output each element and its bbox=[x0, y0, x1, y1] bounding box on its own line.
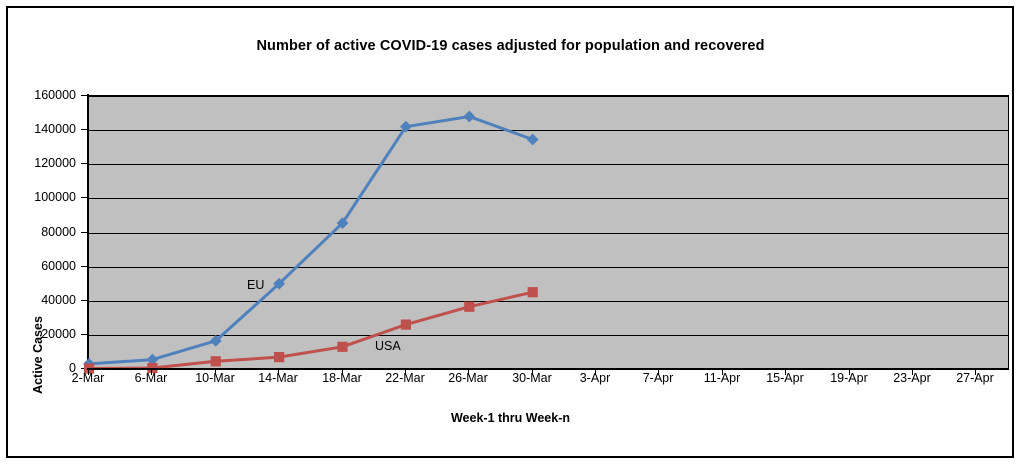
y-axis-tick bbox=[81, 266, 88, 267]
y-axis-tick bbox=[81, 334, 88, 335]
x-axis-tick-label: 19-Apr bbox=[830, 371, 868, 385]
frame-border-right bbox=[1012, 6, 1014, 458]
x-axis-tick-label: 3-Apr bbox=[580, 371, 611, 385]
y-axis-tick bbox=[81, 232, 88, 233]
plot-area bbox=[88, 95, 1009, 370]
x-axis-tick-label: 2-Mar bbox=[72, 371, 105, 385]
x-axis-tick-label: 7-Apr bbox=[643, 371, 674, 385]
x-axis-tick-label: 6-Mar bbox=[135, 371, 168, 385]
y-axis-tick bbox=[81, 95, 88, 96]
data-point bbox=[401, 320, 410, 329]
series-annotation-usa: USA bbox=[375, 339, 401, 353]
x-axis-tick-label: 23-Apr bbox=[893, 371, 931, 385]
y-axis-tick-label: 0 bbox=[0, 361, 76, 375]
series-annotation-eu: EU bbox=[247, 278, 264, 292]
series-plot bbox=[89, 96, 1008, 369]
y-axis-tick-label: 100000 bbox=[0, 190, 76, 204]
y-axis-tick-label: 160000 bbox=[0, 88, 76, 102]
y-axis-tick bbox=[81, 197, 88, 198]
y-axis-tick bbox=[81, 163, 88, 164]
x-axis-title: Week-1 thru Week-n bbox=[0, 411, 1021, 425]
x-axis-tick-label: 26-Mar bbox=[448, 371, 488, 385]
y-axis-tick-label: 120000 bbox=[0, 156, 76, 170]
y-axis-tick-label: 140000 bbox=[0, 122, 76, 136]
y-axis-tick-label: 20000 bbox=[0, 327, 76, 341]
y-axis-tick bbox=[81, 300, 88, 301]
data-point bbox=[465, 302, 474, 311]
x-axis-line bbox=[87, 368, 1008, 370]
y-axis-tick bbox=[81, 129, 88, 130]
x-axis-tick-label: 30-Mar bbox=[512, 371, 552, 385]
x-axis-tick-label: 27-Apr bbox=[956, 371, 994, 385]
x-axis-tick-label: 18-Mar bbox=[322, 371, 362, 385]
chart-frame: Number of active COVID-19 cases adjusted… bbox=[0, 0, 1021, 468]
frame-border-bottom bbox=[6, 456, 1014, 458]
x-axis-tick-label: 22-Mar bbox=[385, 371, 425, 385]
data-point bbox=[528, 288, 537, 297]
x-axis-tick-label: 15-Apr bbox=[766, 371, 804, 385]
frame-border-top bbox=[6, 6, 1014, 8]
data-point bbox=[527, 134, 537, 144]
data-point bbox=[211, 357, 220, 366]
y-axis-tick-label: 40000 bbox=[0, 293, 76, 307]
data-point bbox=[464, 111, 474, 121]
data-point bbox=[275, 353, 284, 362]
data-point bbox=[338, 342, 347, 351]
y-axis-tick-label: 80000 bbox=[0, 225, 76, 239]
chart-title: Number of active COVID-19 cases adjusted… bbox=[0, 38, 1021, 54]
y-axis-title: Active Cases bbox=[31, 295, 45, 415]
series-line-eu bbox=[89, 117, 533, 364]
series-eu bbox=[84, 111, 538, 369]
x-axis-tick-label: 10-Mar bbox=[195, 371, 235, 385]
x-axis-tick-label: 14-Mar bbox=[258, 371, 298, 385]
y-axis-tick-label: 60000 bbox=[0, 259, 76, 273]
x-axis-tick-label: 11-Apr bbox=[704, 371, 741, 385]
